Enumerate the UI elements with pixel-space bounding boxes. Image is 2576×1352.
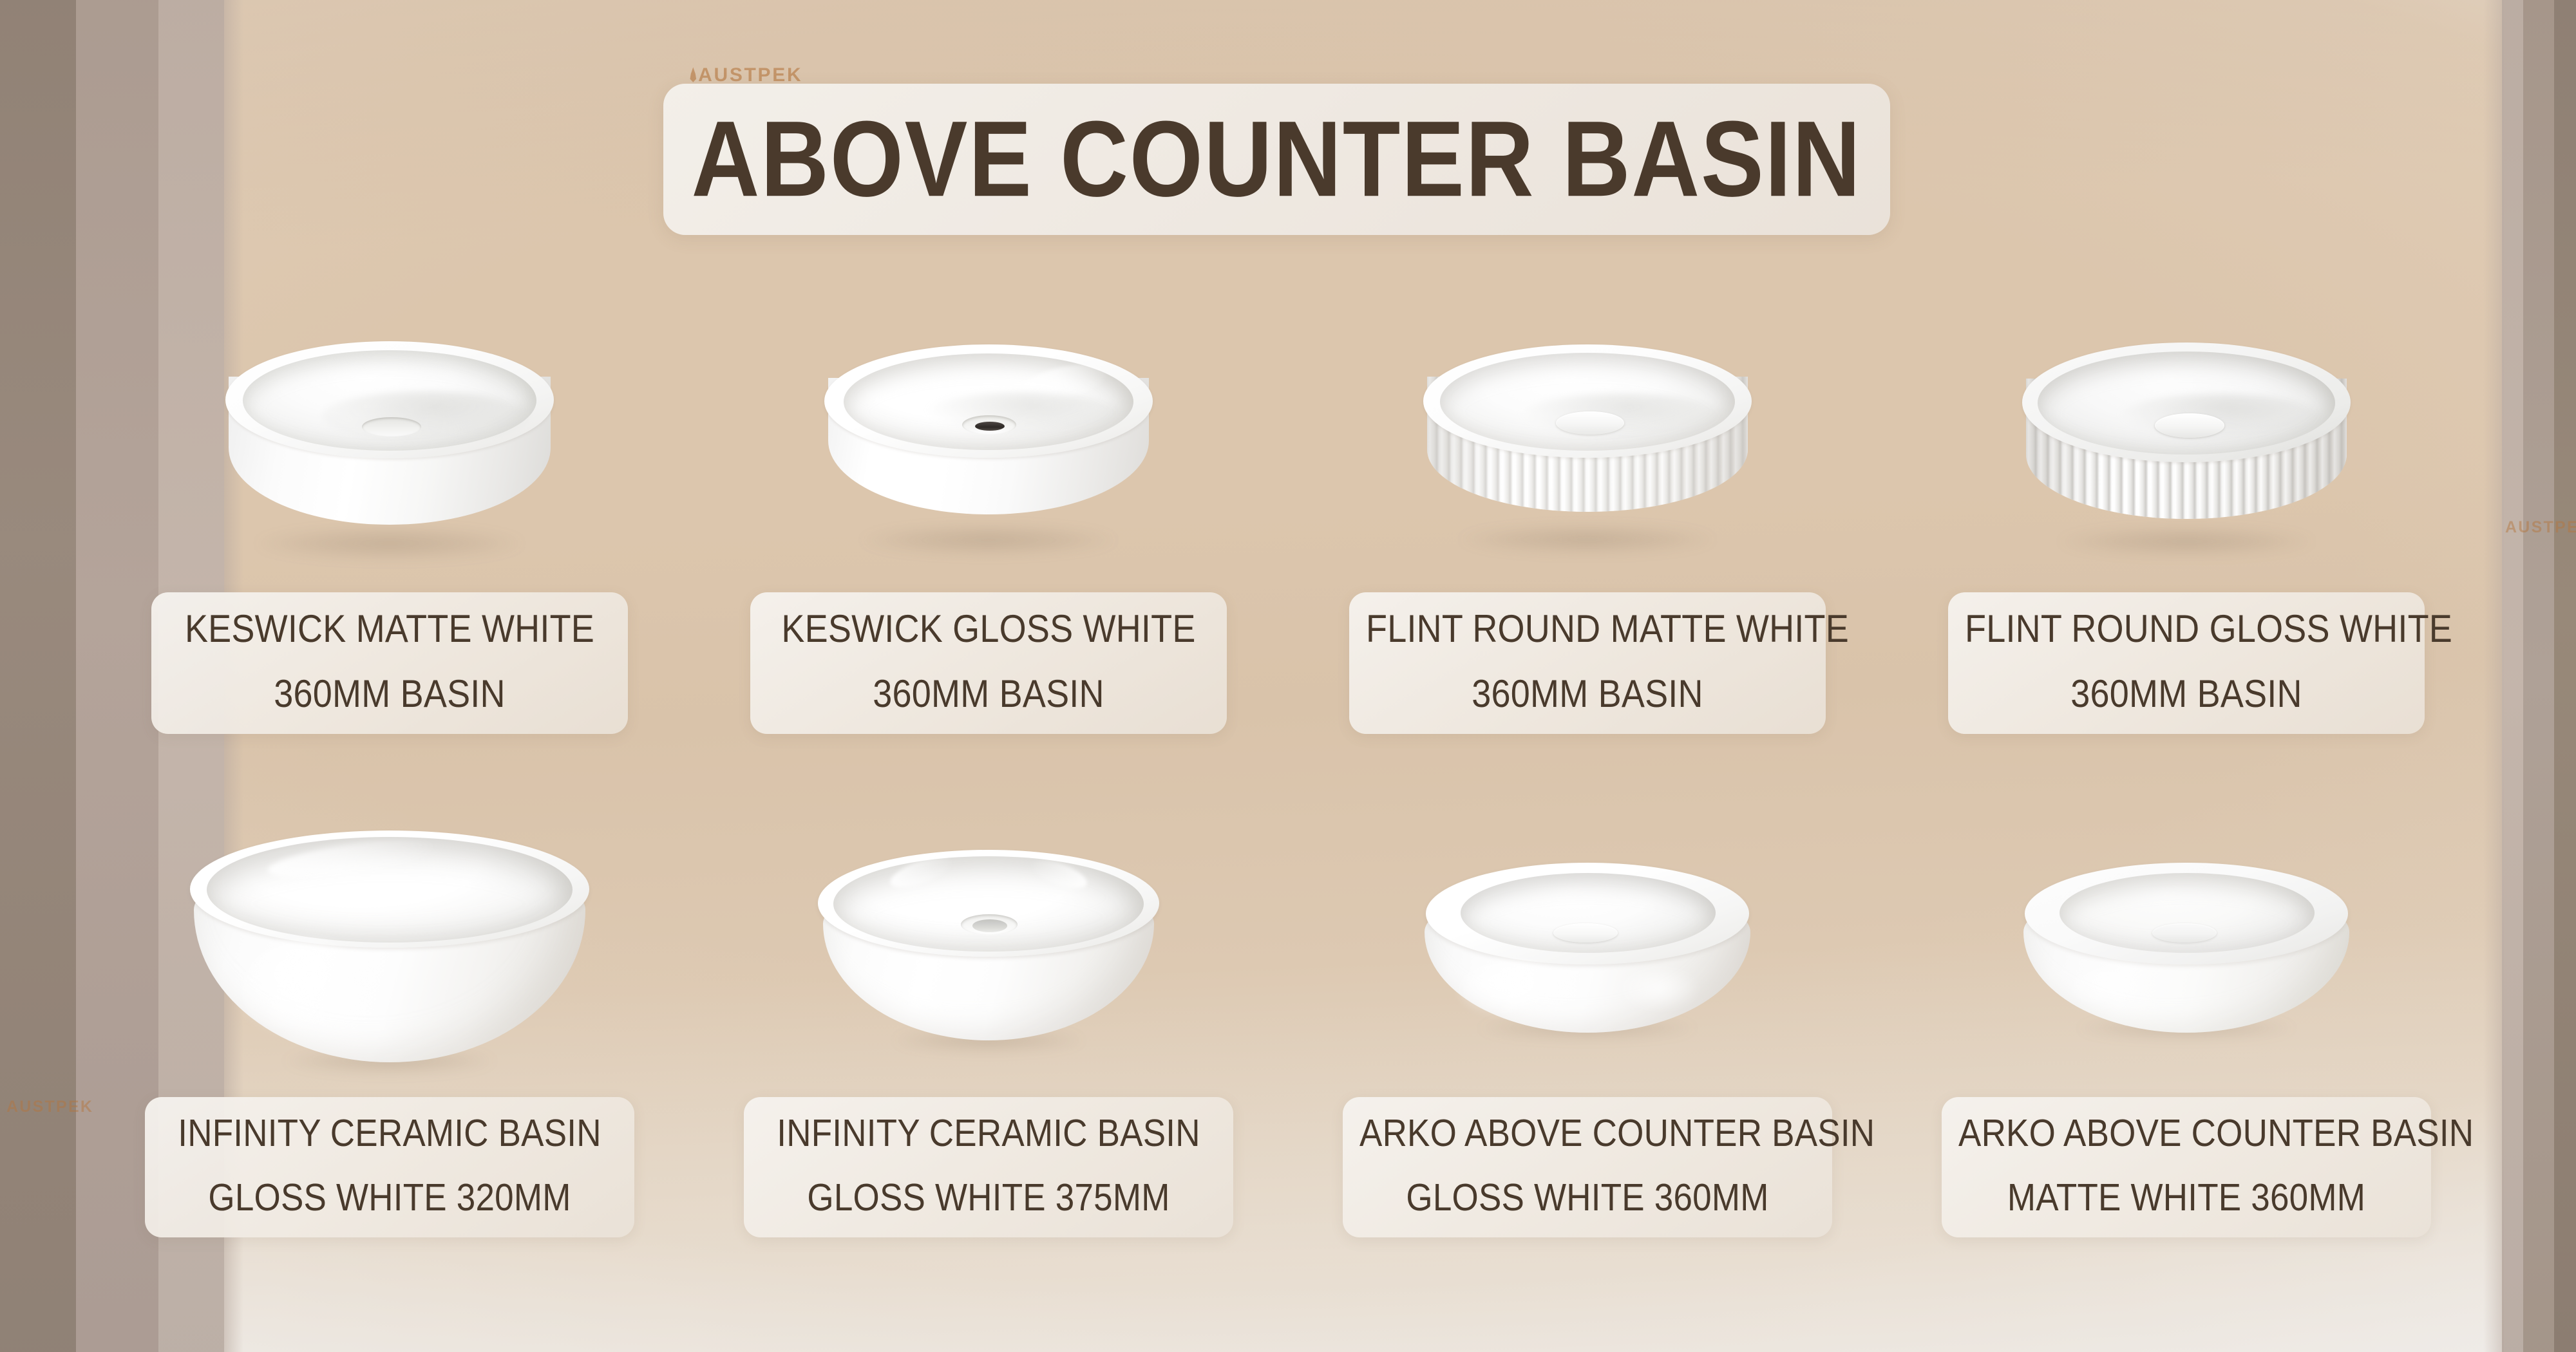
product-card-flint-round-matte-white[interactable]: FLINT ROUND MATTE WHITE 360MM BASIN xyxy=(1288,309,1887,811)
product-image-flint-round-gloss-white xyxy=(1887,309,2486,586)
product-card-flint-round-gloss-white[interactable]: FLINT ROUND GLOSS WHITE 360MM BASIN xyxy=(1887,309,2486,811)
right-edge-band-mid xyxy=(2523,0,2554,1352)
page-title: ABOVE COUNTER BASIN xyxy=(692,106,1862,213)
product-name-line1: FLINT ROUND MATTE WHITE xyxy=(1366,610,1809,650)
right-edge-band-feather xyxy=(2483,0,2504,1352)
product-label-flint-round-gloss-white: FLINT ROUND GLOSS WHITE 360MM BASIN xyxy=(1948,592,2425,734)
product-name-line2: 360MM BASIN xyxy=(1366,675,1809,715)
product-name-line1: KESWICK GLOSS WHITE xyxy=(767,610,1210,650)
product-label-infinity-375: INFINITY CERAMIC BASIN GLOSS WHITE 375MM xyxy=(744,1097,1233,1237)
product-card-keswick-matte-white[interactable]: KESWICK MATTE WHITE 360MM BASIN xyxy=(90,309,689,811)
poster-canvas: AUSTPEK AUSTPEK AUSTPEK ABOVE COUNTER BA… xyxy=(0,0,2576,1352)
brand-watermark-right-text: AUSTPEK xyxy=(2505,518,2576,536)
product-image-keswick-matte-white xyxy=(90,309,689,586)
product-card-arko-gloss-white[interactable]: ARKO ABOVE COUNTER BASIN GLOSS WHITE 360… xyxy=(1288,811,1887,1313)
brand-watermark-left: AUSTPEK xyxy=(6,1098,93,1116)
product-name-line2: GLOSS WHITE 360MM xyxy=(1359,1179,1815,1218)
right-edge-band-light xyxy=(2502,0,2566,1352)
product-label-keswick-matte-white: KESWICK MATTE WHITE 360MM BASIN xyxy=(151,592,628,734)
right-edge-band-dark xyxy=(2554,0,2576,1352)
product-grid: KESWICK MATTE WHITE 360MM BASIN xyxy=(90,309,2486,1313)
product-card-infinity-320[interactable]: INFINITY CERAMIC BASIN GLOSS WHITE 320MM xyxy=(90,811,689,1313)
product-card-keswick-gloss-white[interactable]: KESWICK GLOSS WHITE 360MM BASIN xyxy=(689,309,1288,811)
product-image-arko-matte-white xyxy=(1887,811,2486,1088)
product-name-line2: GLOSS WHITE 375MM xyxy=(761,1179,1217,1218)
product-label-keswick-gloss-white: KESWICK GLOSS WHITE 360MM BASIN xyxy=(750,592,1227,734)
product-card-arko-matte-white[interactable]: ARKO ABOVE COUNTER BASIN MATTE WHITE 360… xyxy=(1887,811,2486,1313)
product-label-infinity-320: INFINITY CERAMIC BASIN GLOSS WHITE 320MM xyxy=(145,1097,634,1237)
product-name-line1: KESWICK MATTE WHITE xyxy=(168,610,611,650)
brand-watermark-top: AUSTPEK xyxy=(689,64,802,86)
flame-icon xyxy=(689,67,697,82)
product-name-line1: INFINITY CERAMIC BASIN xyxy=(761,1114,1217,1154)
product-label-arko-gloss-white: ARKO ABOVE COUNTER BASIN GLOSS WHITE 360… xyxy=(1343,1097,1832,1237)
product-name-line1: FLINT ROUND GLOSS WHITE xyxy=(1965,610,2408,650)
product-image-infinity-320 xyxy=(90,811,689,1088)
product-label-flint-round-matte-white: FLINT ROUND MATTE WHITE 360MM BASIN xyxy=(1349,592,1826,734)
title-banner: ABOVE COUNTER BASIN xyxy=(663,84,1890,235)
product-name-line2: MATTE WHITE 360MM xyxy=(1958,1179,2414,1218)
product-image-flint-round-matte-white xyxy=(1288,309,1887,586)
product-name-line1: ARKO ABOVE COUNTER BASIN xyxy=(1958,1114,2414,1154)
left-edge-band-dark xyxy=(0,0,76,1352)
product-name-line2: GLOSS WHITE 320MM xyxy=(162,1179,618,1218)
brand-watermark-right: AUSTPEK xyxy=(2505,518,2576,537)
product-card-infinity-375[interactable]: INFINITY CERAMIC BASIN GLOSS WHITE 375MM xyxy=(689,811,1288,1313)
product-name-line1: INFINITY CERAMIC BASIN xyxy=(162,1114,618,1154)
product-label-arko-matte-white: ARKO ABOVE COUNTER BASIN MATTE WHITE 360… xyxy=(1942,1097,2431,1237)
brand-watermark-top-text: AUSTPEK xyxy=(698,64,802,86)
product-name-line1: ARKO ABOVE COUNTER BASIN xyxy=(1359,1114,1815,1154)
product-image-keswick-gloss-white xyxy=(689,309,1288,586)
product-image-arko-gloss-white xyxy=(1288,811,1887,1088)
product-name-line2: 360MM BASIN xyxy=(1965,675,2408,715)
product-name-line2: 360MM BASIN xyxy=(168,675,611,715)
product-name-line2: 360MM BASIN xyxy=(767,675,1210,715)
brand-watermark-left-text: AUSTPEK xyxy=(6,1098,93,1116)
product-image-infinity-375 xyxy=(689,811,1288,1088)
